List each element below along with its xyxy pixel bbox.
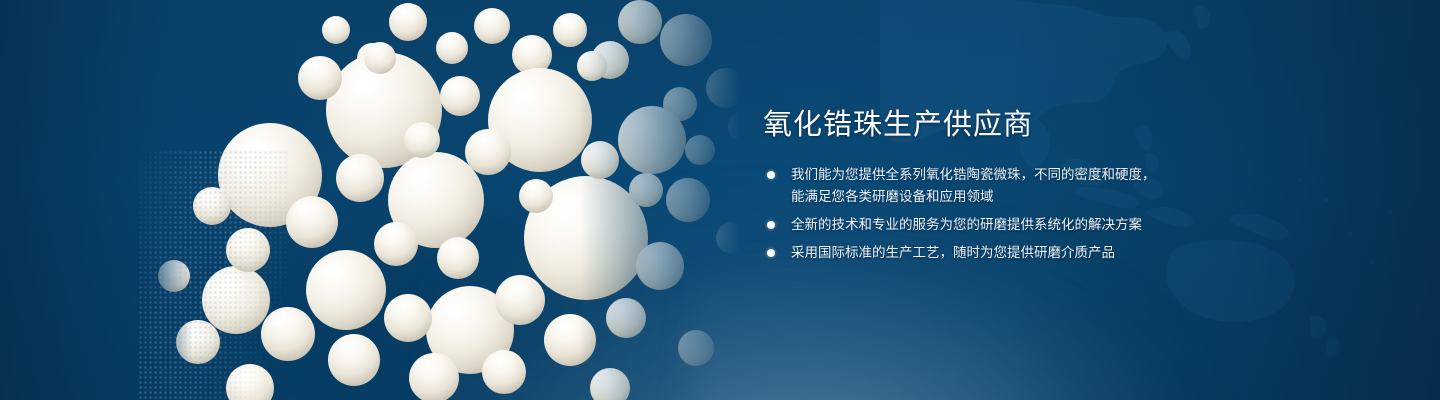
- list-item-line1: 全新的技术和专业的服务为您的研磨提供系统化的解决方案: [791, 217, 1142, 232]
- list-item-line1: 我们能为您提供全系列氧化锆陶瓷微珠，不同的密度和硬度，: [791, 167, 1156, 182]
- feature-list: 我们能为您提供全系列氧化锆陶瓷微珠，不同的密度和硬度， 能满足您各类研磨设备和应…: [763, 164, 1233, 264]
- list-item: 我们能为您提供全系列氧化锆陶瓷微珠，不同的密度和硬度， 能满足您各类研磨设备和应…: [763, 164, 1233, 208]
- banner-copy: 氧化锆珠生产供应商 我们能为您提供全系列氧化锆陶瓷微珠，不同的密度和硬度， 能满…: [763, 106, 1233, 264]
- list-item-line1: 采用国际标准的生产工艺，随时为您提供研磨介质产品: [791, 245, 1115, 260]
- page-title: 氧化锆珠生产供应商: [763, 106, 1233, 144]
- list-item: 采用国际标准的生产工艺，随时为您提供研磨介质产品: [763, 242, 1233, 264]
- hero-banner: 氧化锆珠生产供应商 我们能为您提供全系列氧化锆陶瓷微珠，不同的密度和硬度， 能满…: [0, 0, 1440, 400]
- list-item-line2: 能满足您各类研磨设备和应用领域: [791, 186, 1233, 208]
- bullet-dot-icon: [767, 171, 775, 179]
- bullet-dot-icon: [767, 221, 775, 229]
- list-item: 全新的技术和专业的服务为您的研磨提供系统化的解决方案: [763, 214, 1233, 236]
- bullet-dot-icon: [767, 249, 775, 257]
